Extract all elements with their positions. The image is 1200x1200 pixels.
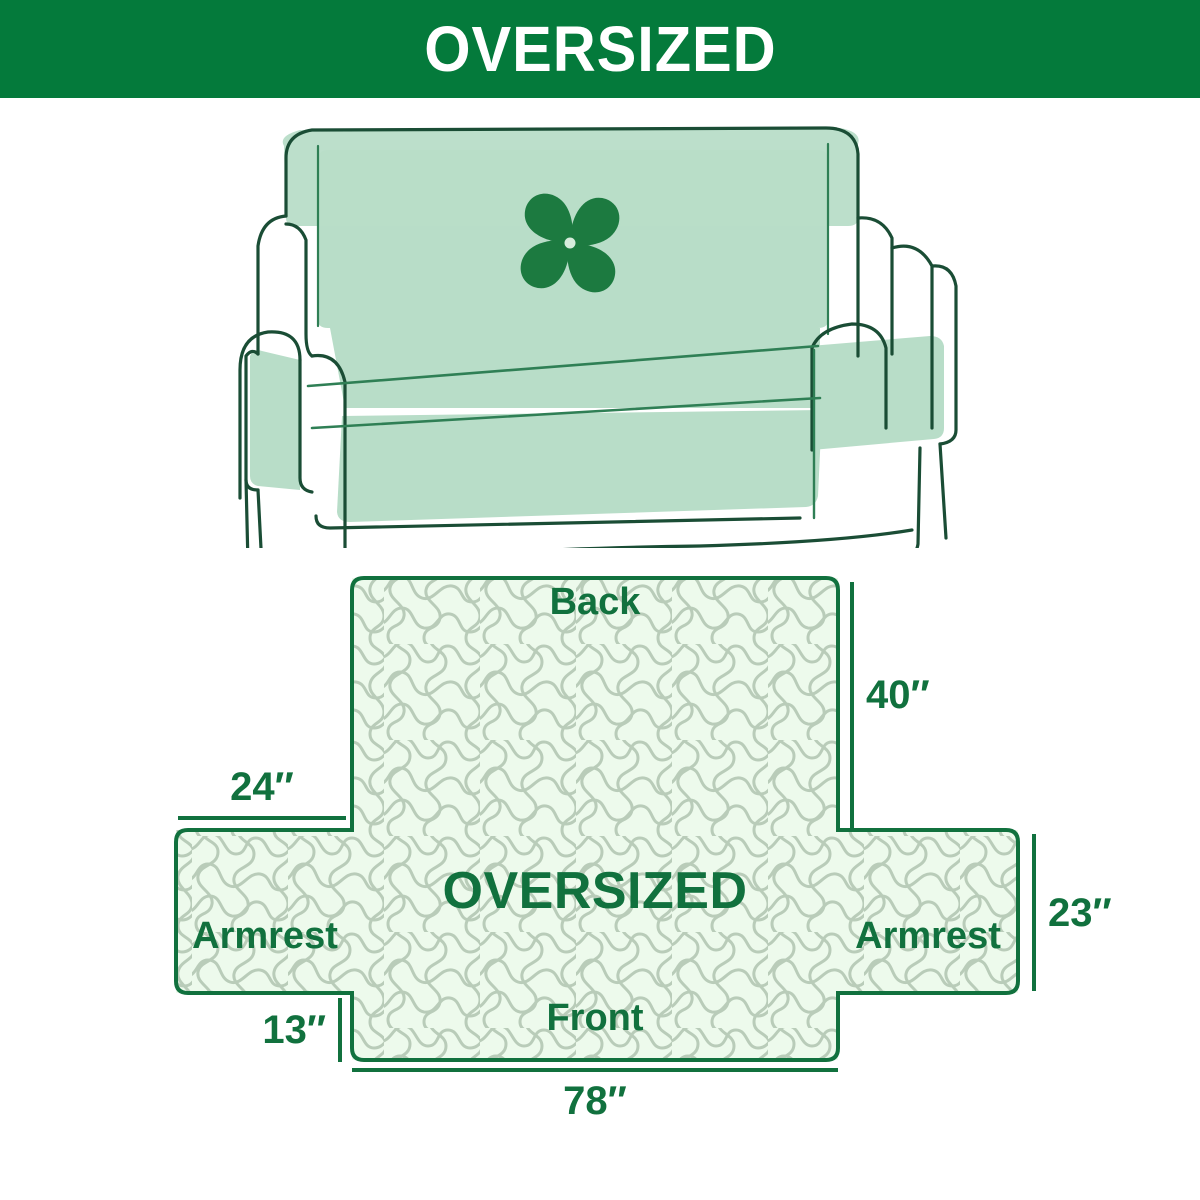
panel-label-back: Back bbox=[550, 581, 642, 623]
center-label-oversized: OVERSIZED bbox=[443, 862, 748, 920]
sofa-base-left bbox=[246, 480, 248, 548]
cover-layout-diagram: Back Armrest Armrest Front OVERSIZED 40″… bbox=[0, 548, 1200, 1200]
page-title: OVERSIZED bbox=[424, 17, 776, 81]
sofa-seat-top-fill bbox=[330, 328, 820, 408]
panel-label-front: Front bbox=[546, 997, 643, 1039]
dim-label-back-height: 40″ bbox=[866, 673, 930, 717]
panel-label-armrest-right: Armrest bbox=[855, 915, 1001, 957]
sofa-left-arm-side-fill bbox=[250, 350, 300, 490]
dim-label-front-drop: 13″ bbox=[262, 1008, 326, 1052]
header-banner: OVERSIZED bbox=[0, 0, 1200, 98]
sofa-right-arm-side-fill bbox=[810, 336, 944, 450]
panel-label-armrest-left: Armrest bbox=[192, 915, 338, 957]
dim-label-armrest-depth: 23″ bbox=[1048, 891, 1112, 935]
sofa-base-right bbox=[940, 444, 946, 538]
dim-label-total-width: 78″ bbox=[563, 1079, 627, 1123]
sofa-seat-front-fill bbox=[337, 410, 822, 522]
sofa-base-front-edge bbox=[276, 530, 912, 548]
cover-layout-section: Back Armrest Armrest Front OVERSIZED 40″… bbox=[0, 548, 1200, 1200]
dim-label-armrest-width: 24″ bbox=[230, 765, 294, 809]
sofa-right-arm-top bbox=[858, 218, 892, 354]
sofa-illustration-section bbox=[0, 98, 1200, 548]
sofa-back-top-fill bbox=[283, 128, 859, 226]
sofa-slipcover-illustration bbox=[0, 98, 1200, 548]
sofa-left-arm-inner bbox=[300, 360, 312, 492]
